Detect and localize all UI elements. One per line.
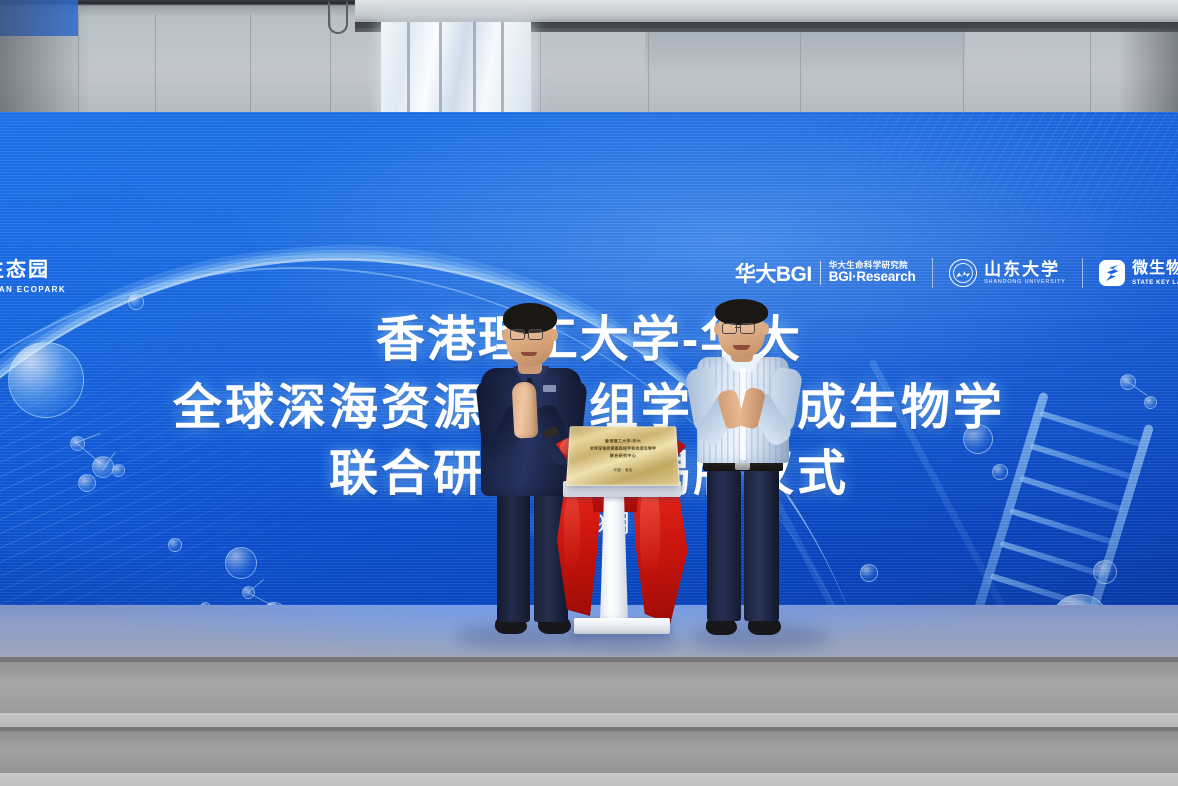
stage-step xyxy=(0,713,1178,727)
sdu-chinese: 山东大学 xyxy=(984,261,1066,278)
skl-english: STATE KEY LABORATORY xyxy=(1132,280,1178,286)
wall-shade-panel xyxy=(645,28,965,88)
stage-step xyxy=(0,773,1178,786)
logo-divider xyxy=(932,258,934,288)
hands-prayer xyxy=(512,381,539,438)
photo-scene: 中德生态园 SINO-GERMAN ECOPARK 华大BGI 华大生命科学研究… xyxy=(0,0,1178,786)
ecopark-chinese: 中德生态园 xyxy=(0,253,66,282)
skl-chinese: 微生物技术 xyxy=(1132,261,1178,277)
ceiling-light-panel xyxy=(381,22,531,118)
logo-state-key-lab: 微生物技术 STATE KEY LABORATORY xyxy=(1099,260,1178,286)
logo-bgi: 华大BGI 华大生命科学研究院 BGI·Research xyxy=(735,258,916,288)
plaque-line-4: 中国 · 青岛 xyxy=(568,467,678,472)
bgi-sub-english: BGI·Research xyxy=(829,270,916,284)
chest-badge xyxy=(543,385,556,392)
commemorative-plaque: 香港理工大学-华大 全球深海资源基因组学和合成生物学 联合研究中心 中国 · 青… xyxy=(566,426,680,485)
logo-divider xyxy=(1082,258,1084,288)
leg xyxy=(744,468,779,621)
ear xyxy=(502,329,509,341)
bgi-wordmark: 华大BGI xyxy=(735,258,812,288)
sdu-english: SHANDONG UNIVERSITY xyxy=(984,280,1066,286)
partner-logo-row: 华大BGI 华大生命科学研究院 BGI·Research 山东大学 SHANDO… xyxy=(735,250,1178,296)
glasses xyxy=(510,329,552,341)
mouth xyxy=(733,345,750,350)
stage-step xyxy=(0,657,1178,713)
shadow xyxy=(566,631,678,651)
state-key-lab-icon xyxy=(1099,260,1125,286)
wall-shadow-left xyxy=(0,0,90,118)
mouth xyxy=(521,352,537,356)
plaque-line-1: 香港理工大学-华大 xyxy=(570,439,677,444)
logo-sino-german-ecopark: 中德生态园 SINO-GERMAN ECOPARK xyxy=(0,250,66,296)
plaque-line-3: 联合研究中心 xyxy=(569,453,677,459)
ear xyxy=(551,329,558,341)
pedestal-column xyxy=(600,497,628,622)
ear xyxy=(714,323,721,335)
leg xyxy=(707,468,741,621)
room-wall xyxy=(0,0,1178,118)
shandong-seal-icon xyxy=(949,259,977,287)
glasses xyxy=(722,323,764,335)
ceiling-cable xyxy=(328,2,348,34)
hair xyxy=(715,299,768,325)
ecopark-english: SINO-GERMAN ECOPARK xyxy=(0,285,66,294)
leg xyxy=(497,487,530,622)
banner-title-line-1: 香港理工大学-华大 xyxy=(0,300,1178,371)
stage-step xyxy=(0,727,1178,773)
plaque-line-2: 全球深海资源基因组学和合成生物学 xyxy=(569,446,677,451)
pedestal-base xyxy=(574,618,670,634)
logo-shandong-university: 山东大学 SHANDONG UNIVERSITY xyxy=(949,259,1066,287)
